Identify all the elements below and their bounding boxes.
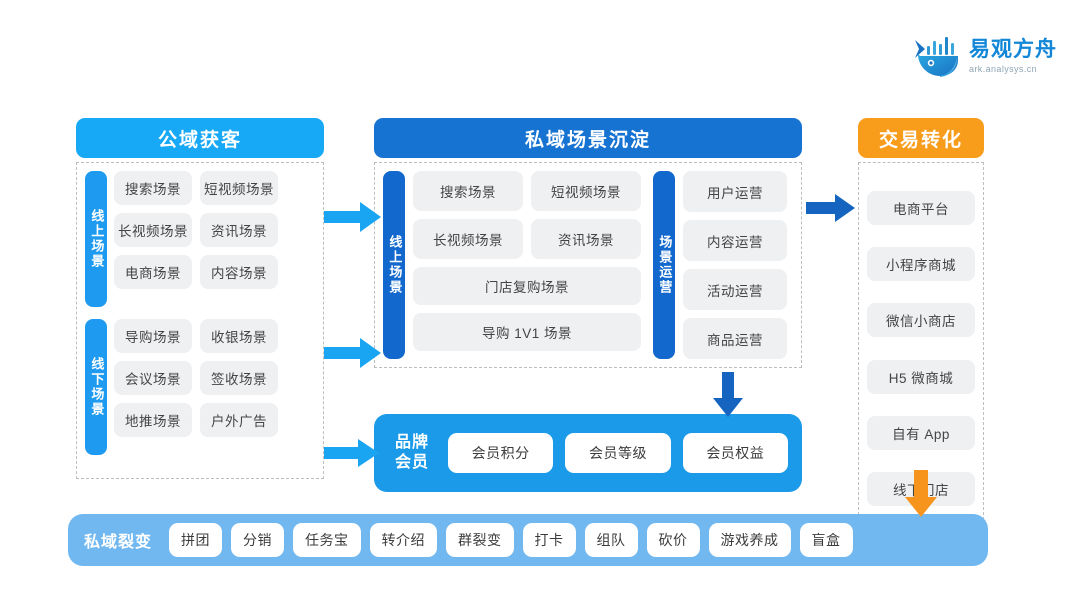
- chip-left-online-5[interactable]: 内容场景: [200, 255, 278, 289]
- left-group-offline: 线下场景 导购场景 收银场景 会议场景 签收场景 地推场景 户外广告: [85, 319, 278, 455]
- arrow-left-to-member: [324, 437, 380, 469]
- middle-vlabel-operations: 场景运营: [653, 171, 675, 359]
- arrow-left-online-to-middle: [324, 200, 382, 234]
- chip-mid-online-1[interactable]: 短视频场景: [531, 171, 641, 211]
- chip-right-1[interactable]: 小程序商城: [867, 247, 975, 281]
- chip-fission-6[interactable]: 组队: [585, 523, 638, 557]
- left-vlabel-offline: 线下场景: [85, 319, 107, 455]
- chip-fission-7[interactable]: 砍价: [647, 523, 700, 557]
- left-offline-grid: 导购场景 收银场景 会议场景 签收场景 地推场景 户外广告: [114, 319, 278, 455]
- chip-member-1[interactable]: 会员等级: [565, 433, 670, 473]
- chip-right-3[interactable]: H5 微商城: [867, 360, 975, 394]
- chip-fission-9[interactable]: 盲盒: [800, 523, 853, 557]
- chip-left-offline-0[interactable]: 导购场景: [114, 319, 192, 353]
- panel-private-domain: 私域场景沉淀 线上场景 搜索场景 短视频场景 长视频场景 资讯场景 门店复购场景…: [374, 118, 802, 368]
- logo-text-block: 易观方舟 ark.analysys.cn: [969, 38, 1057, 74]
- chip-fission-0[interactable]: 拼团: [169, 523, 222, 557]
- chip-mid-wide-1[interactable]: 导购 1V1 场景: [413, 313, 641, 351]
- chip-left-offline-4[interactable]: 地推场景: [114, 403, 192, 437]
- chip-fission-1[interactable]: 分销: [231, 523, 284, 557]
- chip-fission-2[interactable]: 任务宝: [293, 523, 361, 557]
- brand-member-label-line2: 会员: [388, 453, 436, 473]
- chip-mid-ops-1[interactable]: 内容运营: [683, 220, 787, 261]
- chip-left-offline-5[interactable]: 户外广告: [200, 403, 278, 437]
- middle-operations-stack: 用户运营 内容运营 活动运营 商品运营: [683, 171, 787, 359]
- chip-left-online-0[interactable]: 搜索场景: [114, 171, 192, 205]
- chip-mid-online-3[interactable]: 资讯场景: [531, 219, 641, 259]
- chip-mid-wide-0[interactable]: 门店复购场景: [413, 267, 641, 305]
- chip-left-offline-3[interactable]: 签收场景: [200, 361, 278, 395]
- chip-mid-online-2[interactable]: 长视频场景: [413, 219, 523, 259]
- chip-left-online-2[interactable]: 长视频场景: [114, 213, 192, 247]
- chip-left-offline-1[interactable]: 收银场景: [200, 319, 278, 353]
- left-group-online: 线上场景 搜索场景 短视频场景 长视频场景 资讯场景 电商场景 内容场景: [85, 171, 278, 307]
- chip-right-0[interactable]: 电商平台: [867, 191, 975, 225]
- middle-online-grid: 搜索场景 短视频场景 长视频场景 资讯场景: [413, 171, 641, 259]
- middle-vlabel-online: 线上场景: [383, 171, 405, 359]
- chip-mid-ops-2[interactable]: 活动运营: [683, 269, 787, 310]
- arrow-middle-to-member: [711, 372, 745, 418]
- panel-left-body: 线上场景 搜索场景 短视频场景 长视频场景 资讯场景 电商场景 内容场景 线下场…: [76, 162, 324, 479]
- chip-left-offline-2[interactable]: 会议场景: [114, 361, 192, 395]
- middle-online-stack: 搜索场景 短视频场景 长视频场景 资讯场景 门店复购场景 导购 1V1 场景: [413, 171, 641, 359]
- chip-fission-5[interactable]: 打卡: [523, 523, 576, 557]
- panel-left-title: 公域获客: [76, 118, 324, 158]
- middle-group-operations: 场景运营 用户运营 内容运营 活动运营 商品运营: [653, 171, 787, 359]
- whale-barchart-icon: [910, 32, 962, 80]
- chip-mid-online-0[interactable]: 搜索场景: [413, 171, 523, 211]
- left-online-grid: 搜索场景 短视频场景 长视频场景 资讯场景 电商场景 内容场景: [114, 171, 278, 307]
- chip-mid-ops-3[interactable]: 商品运营: [683, 318, 787, 359]
- diagram-canvas: 易观方舟 ark.analysys.cn 公域获客 线上场景 搜索场景 短视频场…: [0, 0, 1080, 603]
- arrow-right-to-bottom: [903, 470, 939, 518]
- panel-public-domain: 公域获客 线上场景 搜索场景 短视频场景 长视频场景 资讯场景 电商场景 内容场…: [76, 118, 324, 479]
- private-fission-label: 私域裂变: [80, 528, 160, 552]
- left-vlabel-online: 线上场景: [85, 171, 107, 307]
- chip-left-online-4[interactable]: 电商场景: [114, 255, 192, 289]
- chip-member-2[interactable]: 会员权益: [683, 433, 788, 473]
- brand-logo: 易观方舟 ark.analysys.cn: [910, 28, 1060, 84]
- chip-mid-ops-0[interactable]: 用户运营: [683, 171, 787, 212]
- chip-left-online-3[interactable]: 资讯场景: [200, 213, 278, 247]
- chip-right-4[interactable]: 自有 App: [867, 416, 975, 450]
- brand-member-label: 品牌 会员: [388, 433, 436, 473]
- chip-fission-8[interactable]: 游戏养成: [709, 523, 791, 557]
- brand-member-bar: 品牌 会员 会员积分 会员等级 会员权益: [374, 414, 802, 492]
- chip-member-0[interactable]: 会员积分: [448, 433, 553, 473]
- panel-right-title: 交易转化: [858, 118, 984, 158]
- arrow-left-offline-to-middle: [324, 336, 382, 370]
- panel-middle-body: 线上场景 搜索场景 短视频场景 长视频场景 资讯场景 门店复购场景 导购 1V1…: [374, 162, 802, 368]
- chip-left-online-1[interactable]: 短视频场景: [200, 171, 278, 205]
- chip-fission-3[interactable]: 转介绍: [370, 523, 438, 557]
- middle-group-online: 线上场景 搜索场景 短视频场景 长视频场景 资讯场景 门店复购场景 导购 1V1…: [383, 171, 641, 359]
- panel-middle-title: 私域场景沉淀: [374, 118, 802, 158]
- arrow-middle-to-right: [806, 192, 856, 224]
- logo-name: 易观方舟: [969, 38, 1057, 61]
- logo-url: ark.analysys.cn: [969, 64, 1057, 74]
- private-fission-bar: 私域裂变 拼团 分销 任务宝 转介绍 群裂变 打卡 组队 砍价 游戏养成 盲盒: [68, 514, 988, 566]
- chip-fission-4[interactable]: 群裂变: [446, 523, 514, 557]
- brand-member-label-line1: 品牌: [388, 433, 436, 453]
- chip-right-2[interactable]: 微信小商店: [867, 303, 975, 337]
